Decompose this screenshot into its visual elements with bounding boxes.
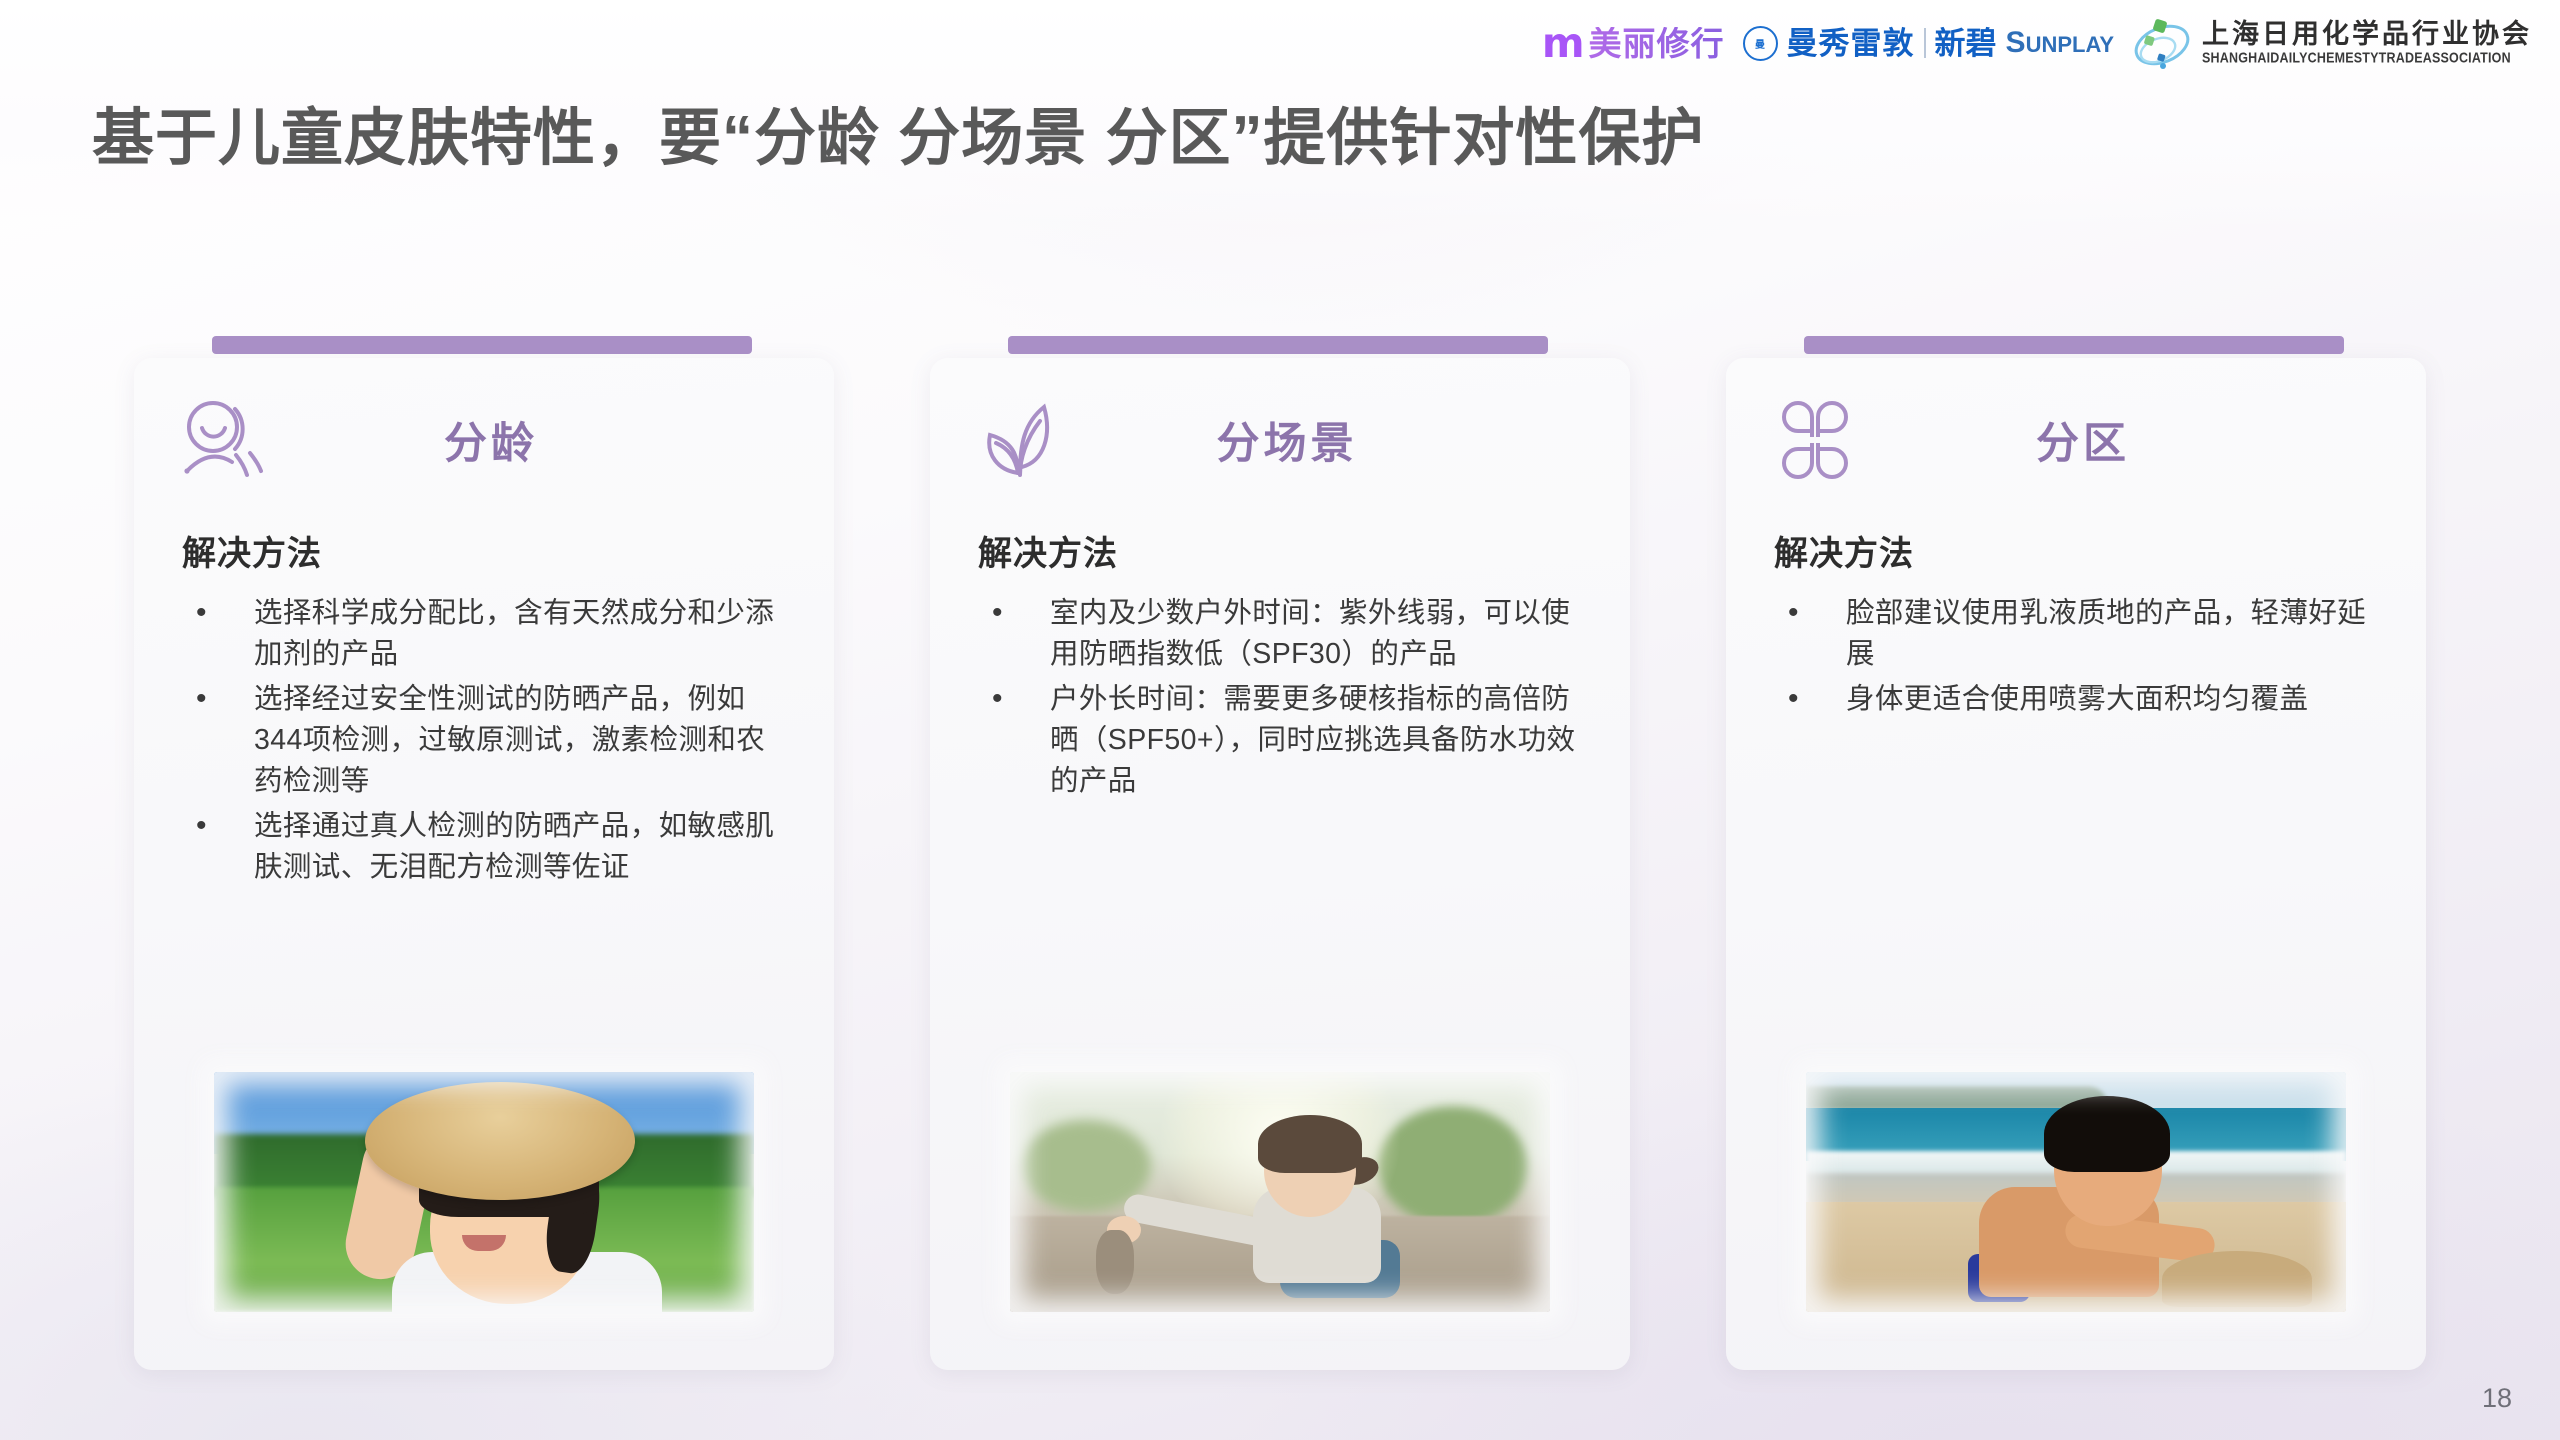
list-item: 身体更适合使用喷雾大面积均匀覆盖 xyxy=(1774,679,2386,720)
card-accent-bar xyxy=(1804,336,2344,354)
sunplay-cap: S xyxy=(2006,26,2026,59)
card-header: 分场景 xyxy=(930,380,1630,500)
association-name-en: SHANGHAIDAILYCHEMESTYTRADEASSOCIATION xyxy=(2202,51,2532,67)
list-item: 选择科学成分配比，含有天然成分和少添加剂的产品 xyxy=(182,593,794,676)
card-title-scenario: 分场景 xyxy=(1064,409,1510,471)
card-header: 分龄 xyxy=(134,380,834,500)
logo-divider xyxy=(1924,28,1926,58)
page-number: 18 xyxy=(2482,1383,2512,1414)
bullet-list: 脸部建议使用乳液质地的产品，轻薄好延展 身体更适合使用喷雾大面积均匀覆盖 xyxy=(1774,593,2386,720)
slide: m 美丽修行 曼 曼秀雷敦 新碧 SUNPLAY 上海日用化学品行业协会 SHA… xyxy=(0,0,2560,1440)
card-body: 解决方法 脸部建议使用乳液质地的产品，轻薄好延展 身体更适合使用喷雾大面积均匀覆… xyxy=(1774,526,2386,723)
card-accent-bar xyxy=(1008,336,1548,354)
bullet-list: 选择科学成分配比，含有天然成分和少添加剂的产品 选择经过安全性测试的防晒产品，例… xyxy=(182,593,794,888)
card-title-age: 分龄 xyxy=(268,409,714,471)
card-zone[interactable]: 分区 解决方法 脸部建议使用乳液质地的产品，轻薄好延展 身体更适合使用喷雾大面积… xyxy=(1726,358,2426,1370)
mentholatum-label: 曼秀雷敦 xyxy=(1787,28,1915,59)
solution-label: 解决方法 xyxy=(1774,526,2386,575)
face-smile-icon xyxy=(178,397,268,483)
logo-bar: m 美丽修行 曼 曼秀雷敦 新碧 SUNPLAY 上海日用化学品行业协会 SHA… xyxy=(1542,14,2532,72)
card-accent-bar xyxy=(212,336,752,354)
four-petal-icon xyxy=(1770,397,1860,483)
card-scenario[interactable]: 分场景 解决方法 室内及少数户外时间：紫外线弱，可以使用防晒指数低（SPF30）… xyxy=(930,358,1630,1370)
solution-label: 解决方法 xyxy=(978,526,1590,575)
card-photo-age xyxy=(214,1072,754,1312)
solution-label: 解决方法 xyxy=(182,526,794,575)
card-photo-scenario xyxy=(1010,1072,1550,1312)
sunplay-label-en: SUNPLAY xyxy=(2006,28,2114,58)
association-name-cn: 上海日用化学品行业协会 xyxy=(2202,20,2532,50)
logo-shanghai-association: 上海日用化学品行业协会 SHANGHAIDAILYCHEMESTYTRADEAS… xyxy=(2132,14,2532,72)
card-photo-zone xyxy=(1806,1072,2346,1312)
sunplay-label-cn: 新碧 xyxy=(1935,28,1997,59)
mentholatum-seal-icon: 曼 xyxy=(1743,26,1778,61)
logo-mentholatum: 曼 曼秀雷敦 新碧 SUNPLAY xyxy=(1743,26,2114,61)
bullet-list: 室内及少数户外时间：紫外线弱，可以使用防晒指数低（SPF30）的产品 户外长时间… xyxy=(978,593,1590,803)
card-age[interactable]: 分龄 解决方法 选择科学成分配比，含有天然成分和少添加剂的产品 选择经过安全性测… xyxy=(134,358,834,1370)
list-item: 选择经过安全性测试的防晒产品，例如344项检测，过敏原测试，激素检测和农药检测等 xyxy=(182,679,794,803)
page-title: 基于儿童皮肤特性，要“分龄 分场景 分区”提供针对性保护 xyxy=(92,104,1704,173)
sunplay-rest: UNPLAY xyxy=(2026,32,2114,57)
logo-meilixiuxing: m 美丽修行 xyxy=(1542,23,1725,64)
card-body: 解决方法 选择科学成分配比，含有天然成分和少添加剂的产品 选择经过安全性测试的防… xyxy=(182,526,794,891)
meilixiuxing-label: 美丽修行 xyxy=(1589,27,1725,60)
meilixiuxing-m-icon: m xyxy=(1542,23,1582,64)
card-header: 分区 xyxy=(1726,380,2426,500)
list-item: 选择通过真人检测的防晒产品，如敏感肌肤测试、无泪配方检测等佐证 xyxy=(182,806,794,889)
card-body: 解决方法 室内及少数户外时间：紫外线弱，可以使用防晒指数低（SPF30）的产品 … xyxy=(978,526,1590,806)
list-item: 室内及少数户外时间：紫外线弱，可以使用防晒指数低（SPF30）的产品 xyxy=(978,593,1590,676)
leaf-sprout-icon xyxy=(974,397,1064,483)
cards-row: 分龄 解决方法 选择科学成分配比，含有天然成分和少添加剂的产品 选择经过安全性测… xyxy=(0,358,2560,1370)
list-item: 户外长时间：需要更多硬核指标的高倍防晒（SPF50+），同时应挑选具备防水功效的… xyxy=(978,679,1590,803)
association-text: 上海日用化学品行业协会 SHANGHAIDAILYCHEMESTYTRADEAS… xyxy=(2202,20,2532,65)
list-item: 脸部建议使用乳液质地的产品，轻薄好延展 xyxy=(1774,593,2386,676)
association-emblem-icon xyxy=(2132,14,2192,72)
card-title-zone: 分区 xyxy=(1860,409,2306,471)
